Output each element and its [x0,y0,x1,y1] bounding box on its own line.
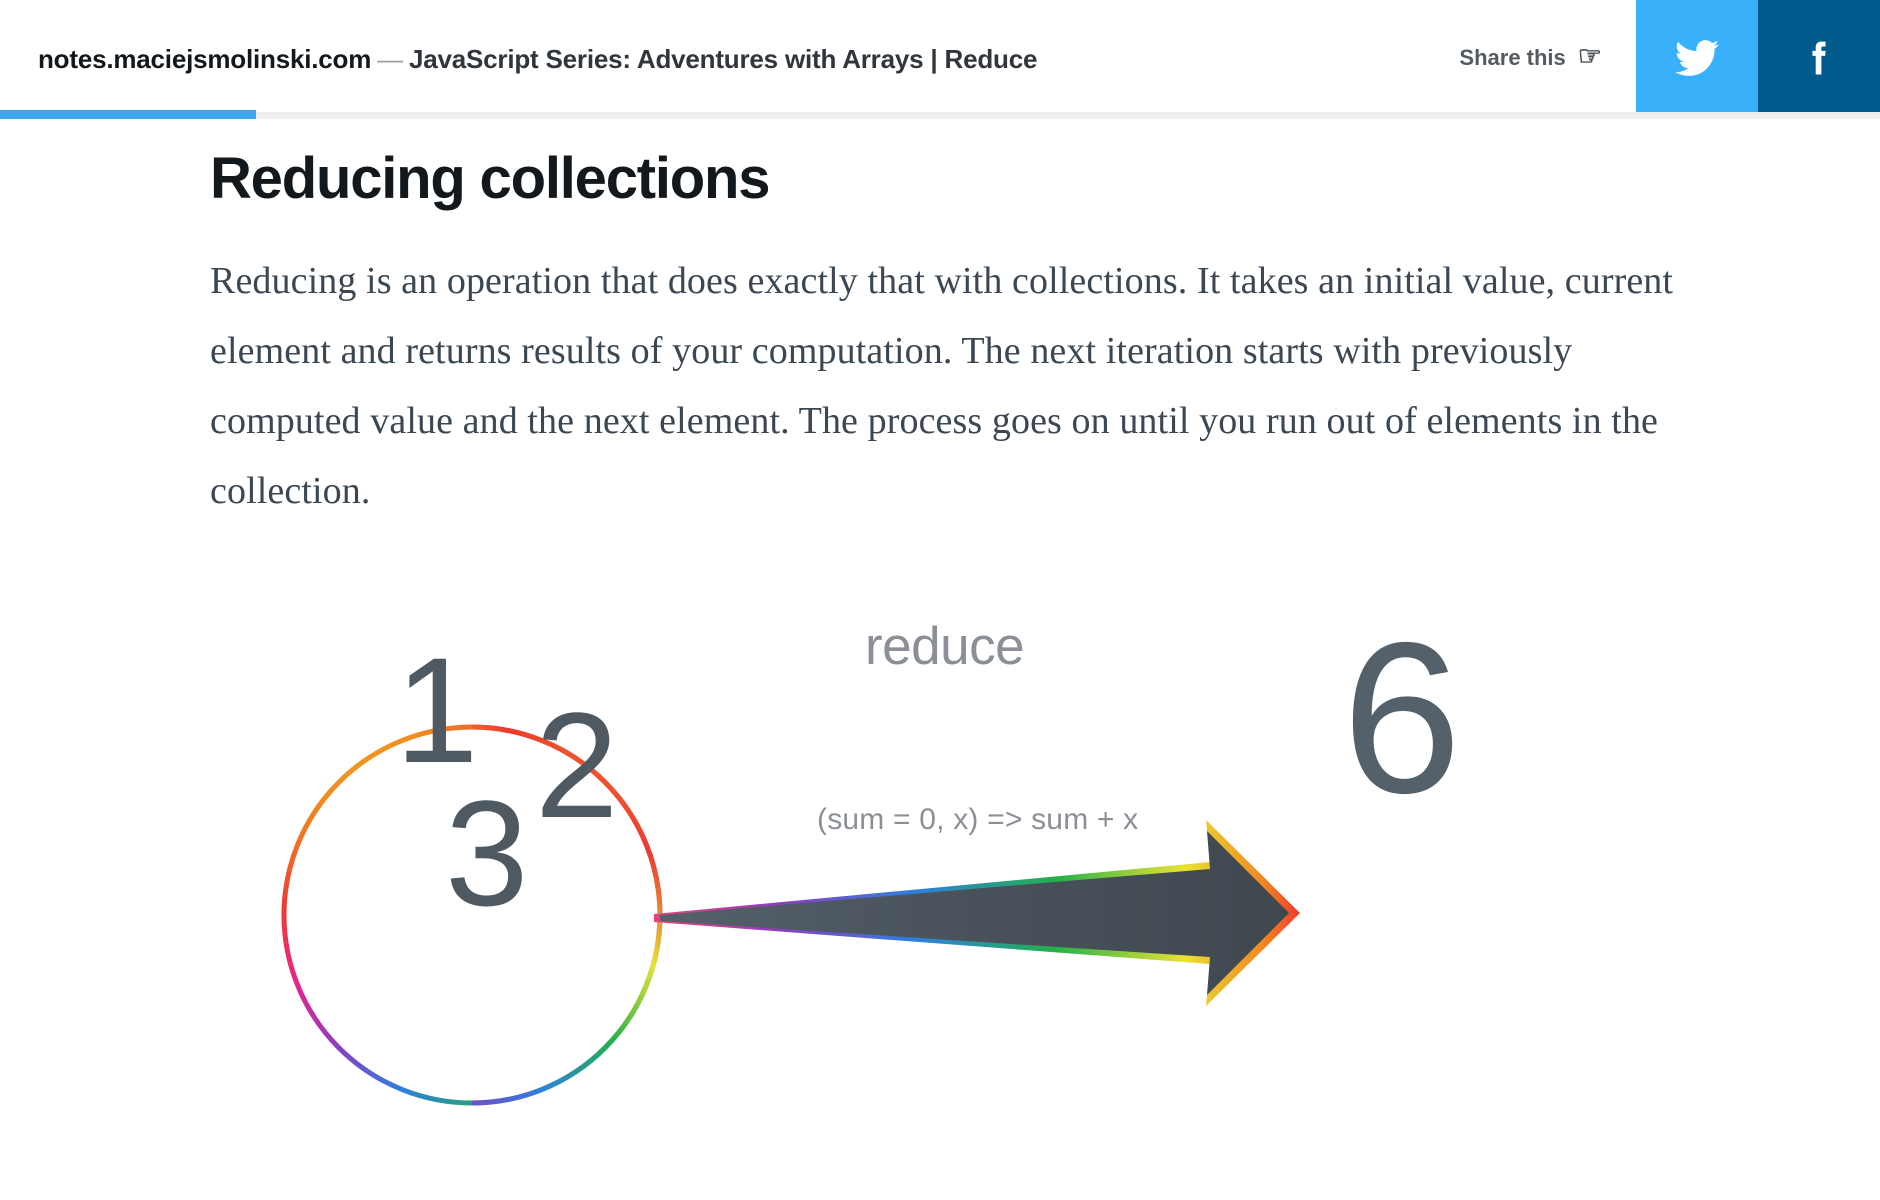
share-group: Share this ☞ [1459,0,1880,115]
article-paragraph: Reducing is an operation that does exact… [210,246,1680,526]
sticky-header: notes.maciejsmolinski.com—JavaScript Ser… [0,0,1880,119]
page-title: Reducing collections [210,146,1670,213]
collection-item-3: 3 [445,778,528,928]
page-root: value that represents our computation. n… [0,0,1880,1200]
reading-progress-fill [0,110,256,119]
reducer-function-label: (sum = 0, x) => sum + x [817,805,1138,835]
article: Reducing collections Reducing is an oper… [0,119,1880,526]
breadcrumb-article-title: JavaScript Series: Adventures with Array… [409,44,1037,74]
share-twitter-button[interactable] [1636,0,1758,117]
share-this-text: Share this [1459,47,1565,69]
share-facebook-button[interactable] [1758,0,1880,117]
twitter-icon [1675,36,1719,80]
breadcrumb-site-link[interactable]: notes.maciejsmolinski.com [38,44,371,74]
collection-item-1: 1 [395,635,478,785]
facebook-icon [1797,36,1841,80]
reduce-diagram: 1 2 3 reduce (sum = 0, x) => sum + x 6 [210,700,1680,1170]
pointing-hand-icon: ☞ [1578,43,1602,70]
reading-progress-track [0,112,1880,119]
breadcrumb-separator: — [371,44,409,74]
share-this-label: Share this ☞ [1459,44,1636,71]
collection-item-2: 2 [535,690,618,840]
header-inner: notes.maciejsmolinski.com—JavaScript Ser… [0,0,1880,115]
breadcrumb: notes.maciejsmolinski.com—JavaScript Ser… [38,44,1037,72]
reduce-operation-label: reduce [865,620,1024,673]
reduce-result-value: 6 [1342,610,1458,825]
